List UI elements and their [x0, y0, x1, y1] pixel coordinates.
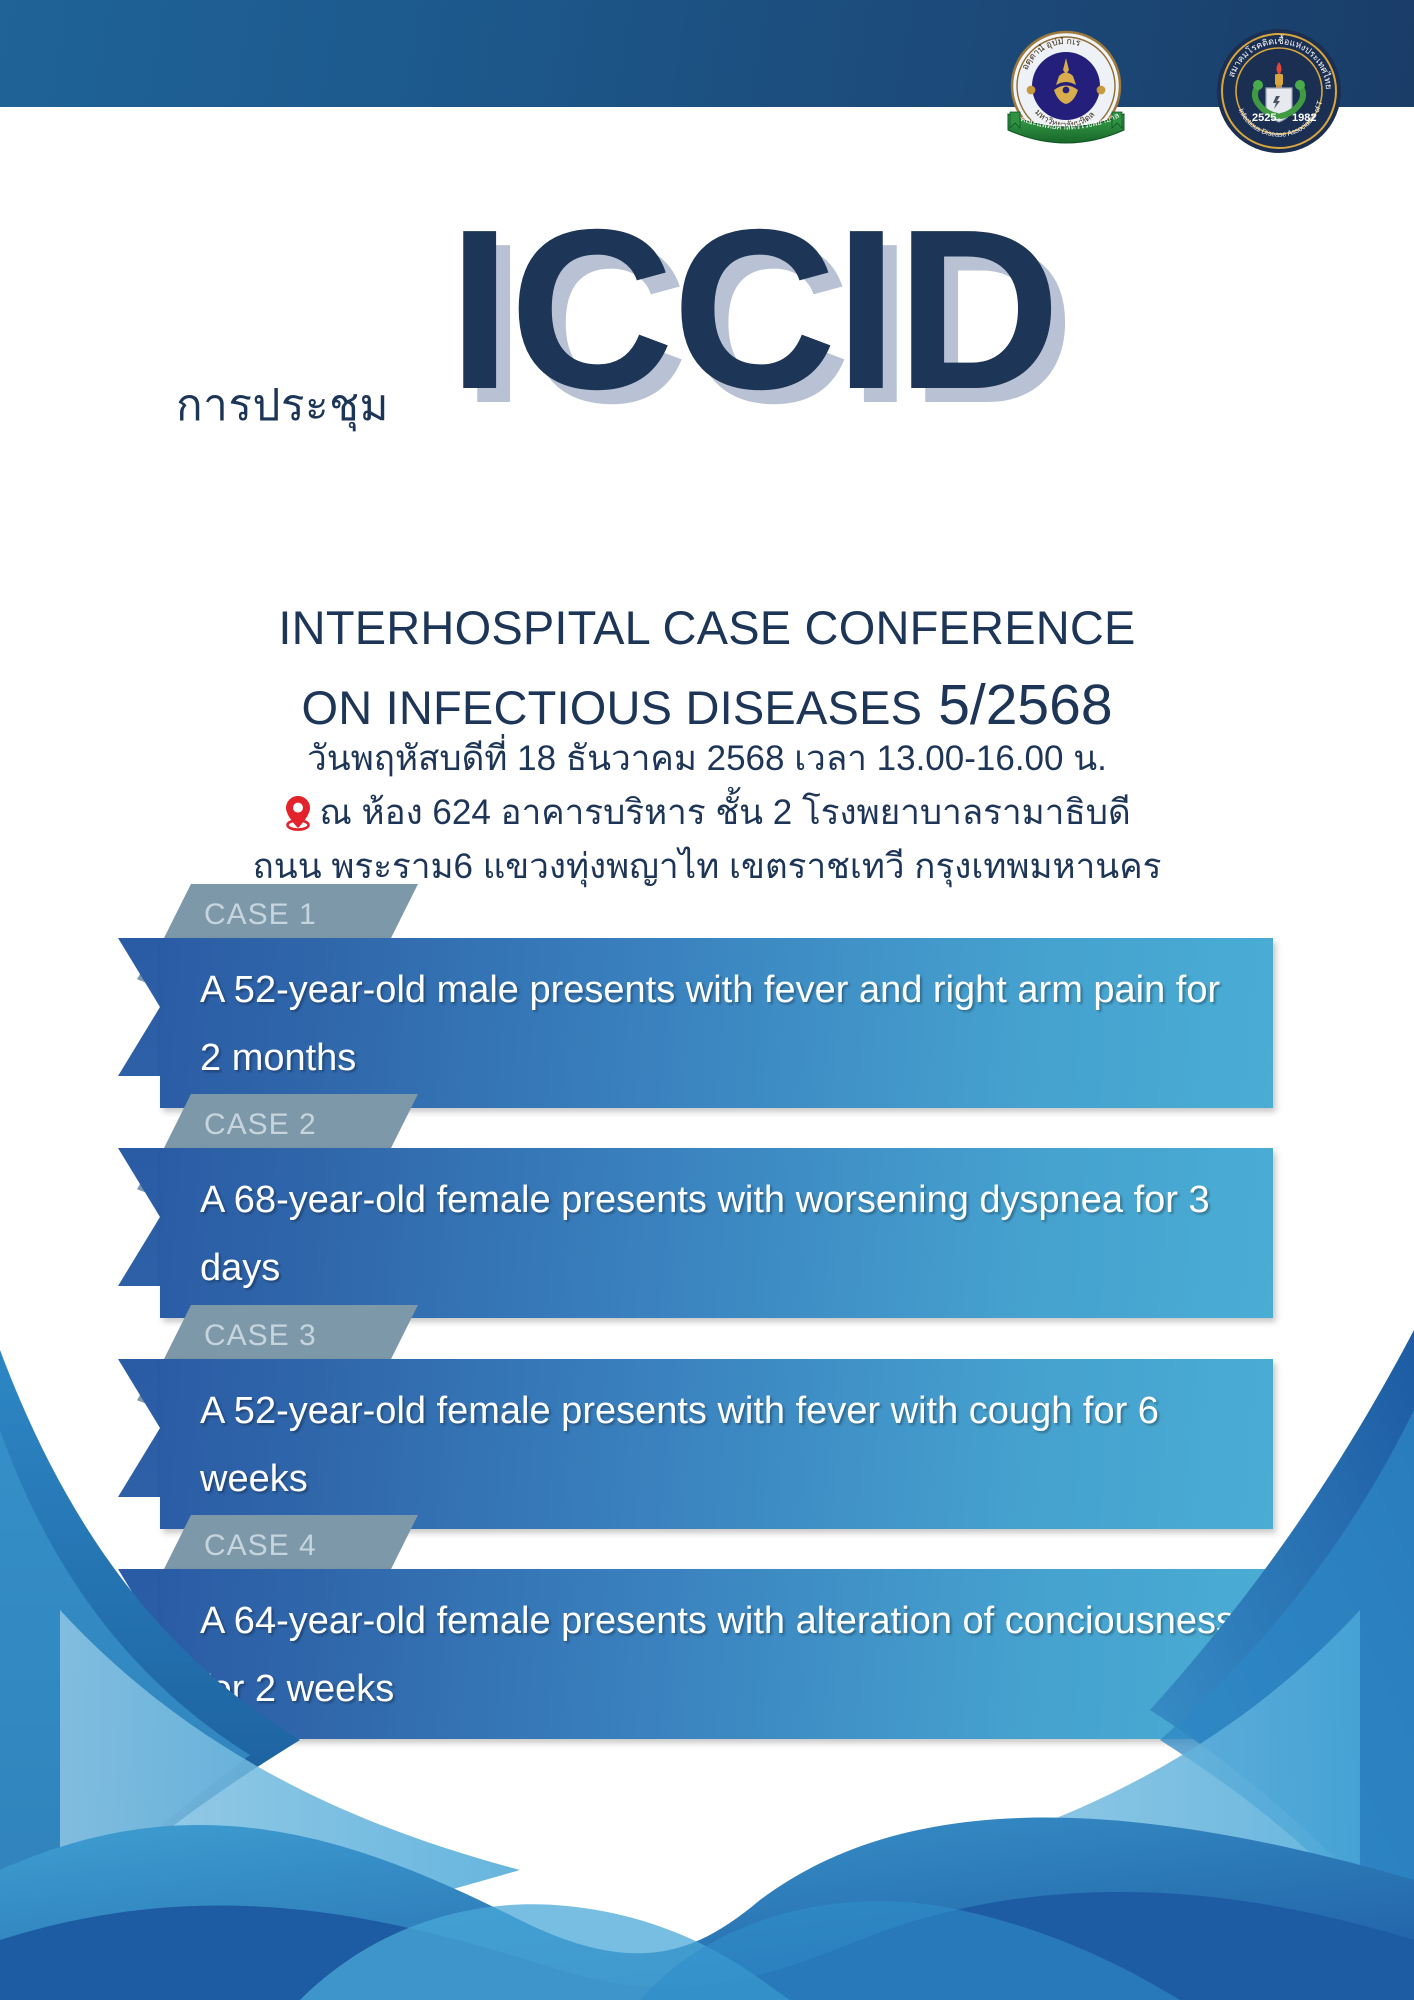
- case-description: A 64-year-old female presents with alter…: [160, 1569, 1273, 1739]
- issue-number: 5/2568: [938, 673, 1112, 737]
- case-tab-label: CASE 1: [160, 884, 418, 946]
- event-datetime: วันพฤหัสบดีที่ 18 ธันวาคม 2568 เวลา 13.0…: [0, 731, 1414, 786]
- event-venue-row: ณ ห้อง 624 อาคารบริหาร ชั้น 2 โรงพยาบาลร…: [0, 785, 1414, 840]
- infectious-disease-association-logo: สมาคมโรคติดเชื้อแห่งประเทศไทย Infectious…: [1214, 26, 1344, 156]
- title-block: ICCID ICCID การประชุม INTERHOSPITAL CASE…: [0, 190, 1414, 410]
- location-pin-icon: [283, 794, 313, 832]
- mahidol-ramathibodi-logo: อตฺตานํ อุปมํ กเร มหาวิทยาลัยมหิดล คณะแพ…: [1004, 28, 1128, 152]
- case-tab-label: CASE 3: [160, 1305, 418, 1367]
- subtitle-text: ON INFECTIOUS DISEASES: [301, 681, 922, 734]
- event-venue-text: ณ ห้อง 624 อาคารบริหาร ชั้น 2 โรงพยาบาลร…: [319, 793, 1130, 832]
- case-tab-label: CASE 4: [160, 1515, 418, 1577]
- header-band: [0, 0, 1414, 107]
- acronym-title: ICCID: [448, 196, 1059, 424]
- idat-year-western: 1982: [1292, 112, 1316, 124]
- conference-subtitle-line-1: INTERHOSPITAL CASE CONFERENCE: [0, 600, 1414, 655]
- conference-subtitle-line-2: ON INFECTIOUS DISEASES5/2568: [0, 672, 1414, 738]
- case-description: A 52-year-old female presents with fever…: [160, 1359, 1273, 1529]
- acronym-row: ICCID ICCID การประชุม: [0, 190, 1414, 410]
- thai-kicker-label: การประชุม: [176, 370, 389, 440]
- idat-year-thai: 2525: [1252, 112, 1276, 124]
- case-description: A 68-year-old female presents with worse…: [160, 1148, 1273, 1318]
- case-description: A 52-year-old male presents with fever a…: [160, 938, 1273, 1108]
- case-tab-label: CASE 2: [160, 1094, 418, 1156]
- poster-canvas: อตฺตานํ อุปมํ กเร มหาวิทยาลัยมหิดล คณะแพ…: [0, 0, 1414, 2000]
